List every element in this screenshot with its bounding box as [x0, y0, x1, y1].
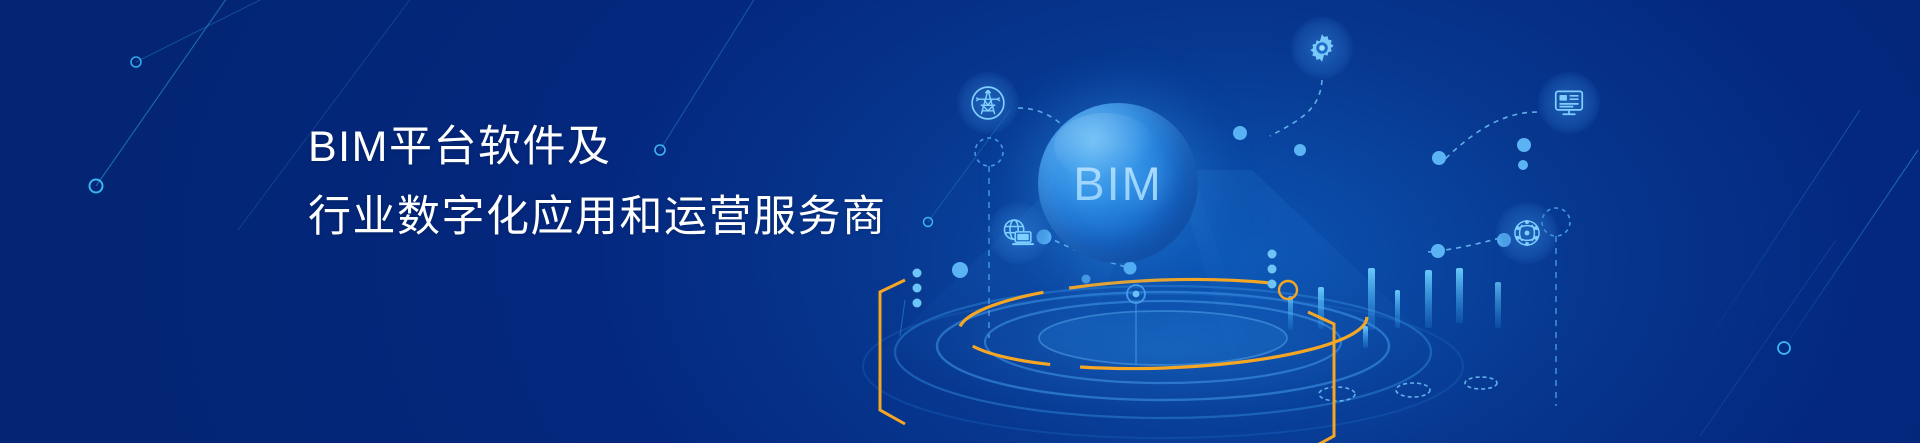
headline-line-1: BIM平台软件及	[308, 112, 1008, 182]
monitor-icon	[1538, 72, 1600, 134]
headline-line-2: 行业数字化应用和运营服务商	[308, 182, 1008, 252]
sphere-gloss	[1054, 113, 1156, 180]
hero-banner: BIM平台软件及 行业数字化应用和运营服务商 BIM	[0, 0, 1920, 443]
headline-block: BIM平台软件及 行业数字化应用和运营服务商	[308, 112, 1008, 252]
bim-sphere	[1038, 103, 1198, 263]
gear-icon	[1291, 17, 1353, 79]
diagonal-lines-right	[1700, 110, 1918, 436]
network-icon	[1496, 202, 1558, 264]
